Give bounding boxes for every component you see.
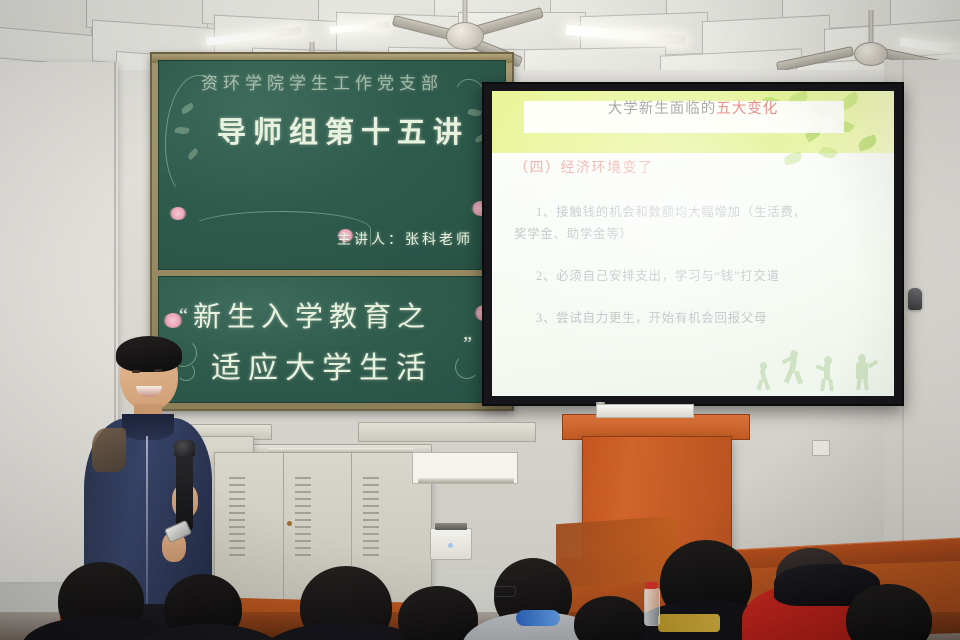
blackboard-line-main: 导师组第十五讲 — [217, 109, 469, 151]
blackboard-lower-line-1: 新生入学教育之 — [193, 295, 431, 335]
blackboard-quote-open: “ — [179, 305, 191, 328]
bottle-cap — [645, 582, 657, 589]
blackboard-line-top: 资环学院学生工作党支部 — [201, 69, 443, 94]
slide-subtitle: （四）经济环境变了 — [514, 157, 654, 177]
lecturer-eye-right — [154, 369, 162, 372]
blackboard-line-presenter: 主讲人：张科老师 — [337, 229, 473, 249]
slide-bullet-2: 2、必须自己安排支出，学习与“钱”打交道 — [536, 267, 780, 286]
blackboard-quote-close: ” — [463, 333, 475, 356]
slide-bullet-1: 1、接触钱的机会和数额均大幅增加（生活费、 — [536, 203, 807, 222]
student-head — [574, 596, 646, 640]
jacket-shoulder-trim — [92, 428, 126, 472]
slide-surface: 大学新生面临的五大变化 （四）经济环境变了 1、接触钱的机会和数额均大幅增加（生… — [492, 91, 894, 396]
slide-title: 大学新生面临的五大变化 — [492, 97, 894, 118]
lecturer-eye-left — [132, 370, 140, 373]
blackboard-upper-panel: 资环学院学生工作党支部 导师组第十五讲 主讲人：张科老师 — [158, 60, 506, 270]
lectern-papers — [596, 404, 694, 418]
slide-title-plain: 大学新生面临的 — [608, 101, 717, 117]
projection-screen: 大学新生面临的五大变化 （四）经济环境变了 1、接触钱的机会和数额均大幅增加（生… — [482, 82, 904, 406]
blackboard-lower-line-2: 适应大学生活 — [211, 343, 433, 387]
cabinet-drawer-rail — [418, 478, 514, 483]
water-bottle[interactable] — [644, 588, 660, 626]
wall-outlet[interactable] — [812, 440, 830, 456]
cabinet-shelf-right — [358, 422, 536, 442]
lecturer-hair — [116, 336, 182, 372]
jacket-collar — [122, 414, 174, 440]
running-children-silhouettes-icon — [758, 336, 888, 392]
classroom-photo-scene: 资环学院学生工作党支部 导师组第十五讲 主讲人：张科老师 “ 新生入学教育之 适… — [0, 0, 960, 640]
slide-bullet-3: 3、尝试自力更生，开始有机会回报父母 — [536, 309, 767, 328]
audience — [0, 500, 960, 640]
student-scarf — [516, 610, 560, 626]
wall-speaker-icon — [908, 288, 922, 310]
student-collar-accent — [658, 614, 720, 632]
slide-bullet-1-cont: 奖学金、助学金等） — [514, 225, 633, 244]
slide-title-highlight: 五大变化 — [716, 101, 778, 117]
student-glasses-icon — [494, 586, 516, 597]
student-head — [398, 586, 478, 640]
microphone-head — [174, 440, 195, 456]
